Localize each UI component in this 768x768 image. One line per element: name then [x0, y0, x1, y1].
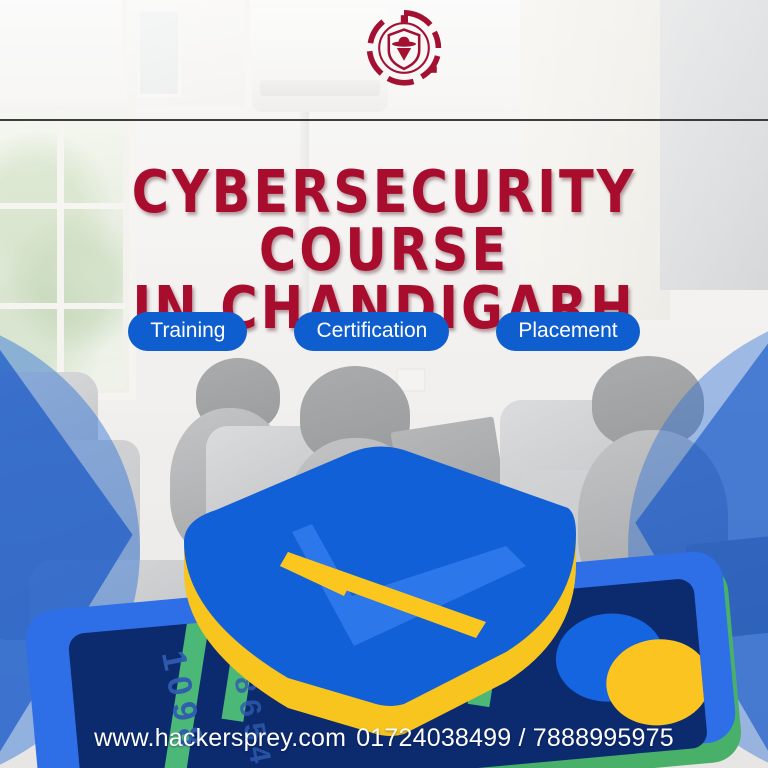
- badge-training[interactable]: Training: [128, 312, 247, 351]
- website-url[interactable]: www.hackersprey.com: [94, 724, 346, 752]
- security-shield-check-icon: [176, 446, 606, 746]
- header-divider: [0, 119, 768, 121]
- title-line-1: CYBERSECURITY COURSE: [132, 157, 637, 284]
- contact-footer: www.hackersprey.com01724038499 / 7888995…: [0, 724, 768, 752]
- page-title: CYBERSECURITY COURSE IN CHANDIGARH: [15, 163, 752, 337]
- promo-poster: CYBERSECURITY COURSE IN CHANDIGARH Train…: [0, 0, 768, 768]
- badge-placement[interactable]: Placement: [496, 312, 639, 351]
- hackersprey-logo-icon: [364, 8, 444, 88]
- phone-numbers[interactable]: 01724038499 / 7888995975: [356, 724, 674, 752]
- feature-badges: Training Certification Placement: [0, 312, 768, 351]
- badge-certification[interactable]: Certification: [294, 312, 449, 351]
